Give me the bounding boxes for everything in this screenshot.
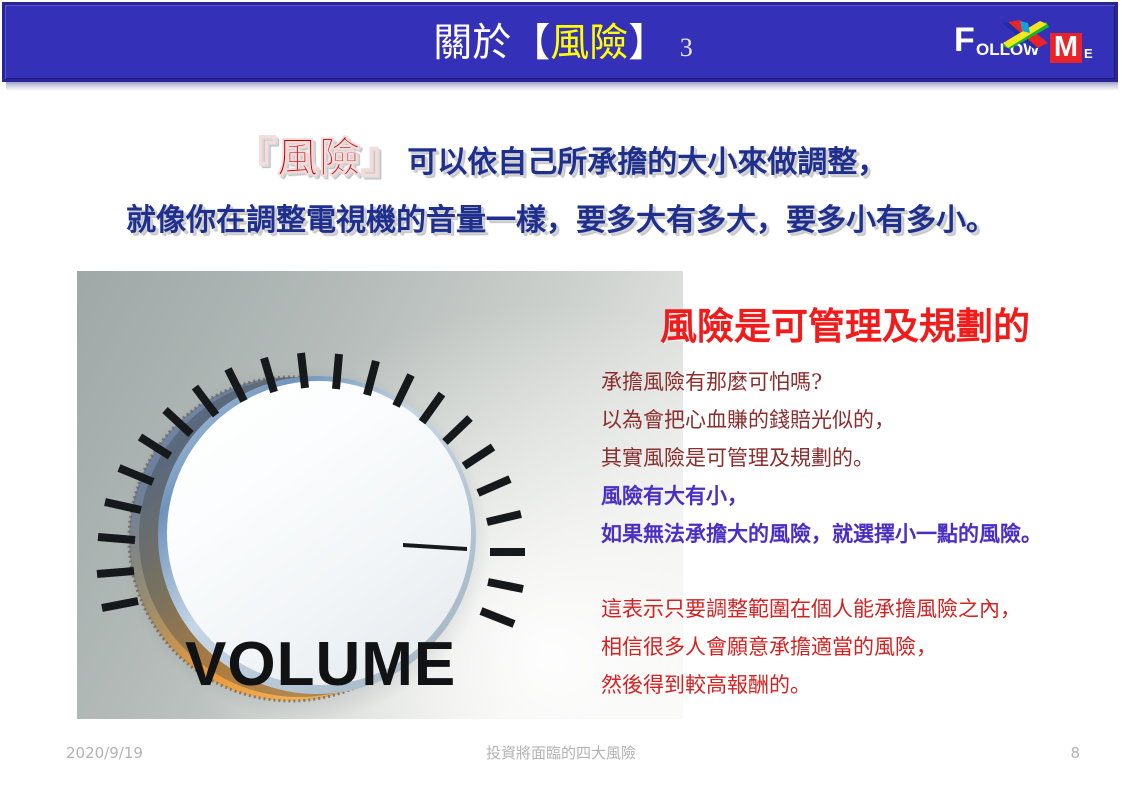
right-panel-heading: 風險是可管理及規劃的 — [660, 306, 1110, 348]
body-line: 這表示只要調整範圍在個人能承擔風險之內， — [601, 590, 1121, 628]
footer-page-number: 8 — [0, 742, 1080, 764]
page-title-prefix: 關於 — [433, 21, 511, 66]
headline-emphasis-risk: 『風險』 — [235, 133, 403, 182]
body-line: 以為會把心血賺的錢賠光似的， — [601, 401, 1121, 439]
headline-line-2: 就像你在調整電視機的音量一樣，要多大有多大，要多小有多小。 — [0, 195, 1122, 239]
page-title-highlight: 風險 — [550, 21, 628, 66]
body-line: 然後得到較高報酬的。 — [601, 666, 1121, 704]
headline-line-1: 『風險』 可以依自己所承擔的大小來做調整， — [0, 124, 1122, 185]
page-title-bracket-close: 】 — [628, 21, 667, 66]
body-line: 相信很多人會願意承擔適當的風險， — [601, 628, 1121, 666]
body-line: 風險有大有小， — [601, 477, 1121, 515]
logo-letter-f: F — [954, 23, 974, 57]
body-line: 如果無法承擔大的風險，就選擇小一點的風險。 — [601, 515, 1121, 553]
headline-line-1-text: 可以依自己所承擔的大小來做調整， — [407, 145, 887, 180]
photo-caption-volume: VOLUME — [185, 630, 456, 699]
logo-m-badge: M — [1050, 33, 1082, 63]
logo-letter-m: M — [1050, 31, 1082, 63]
right-panel-paragraph-1: 承擔風險有那麼可怕嗎? 以為會把心血賺的錢賠光似的， 其實風險是可管理及規劃的。… — [601, 363, 1121, 553]
followme-logo: F OLLOW M E — [952, 17, 1112, 73]
headline-line-2-text: 就像你在調整電視機的音量一樣，要多大有多大，要多小有多小。 — [126, 203, 996, 238]
body-line: 其實風險是可管理及規劃的。 — [601, 439, 1121, 477]
slide-canvas: 關於【風險】 3 F OLLOW M E 『風險』 可以依自己 — [0, 0, 1122, 793]
right-panel-paragraph-2: 這表示只要調整範圍在個人能承擔風險之內， 相信很多人會願意承擔適當的風險， 然後… — [601, 590, 1121, 704]
page-title-bracket-open: 【 — [511, 21, 550, 66]
x-ribbon-mark-icon — [1000, 19, 1050, 51]
volume-knob-photo: VOLUME — [77, 271, 683, 719]
page-title-number: 3 — [680, 33, 693, 62]
title-bar-drop-shadow — [6, 82, 1118, 91]
body-line: 承擔風險有那麼可怕嗎? — [601, 363, 1121, 401]
logo-letter-e: E — [1084, 47, 1093, 60]
slide-title-bar: 關於【風險】 3 F OLLOW M E — [2, 2, 1118, 82]
slide-footer: 2020/9/19 投資將面臨的四大風險 8 — [0, 742, 1122, 772]
